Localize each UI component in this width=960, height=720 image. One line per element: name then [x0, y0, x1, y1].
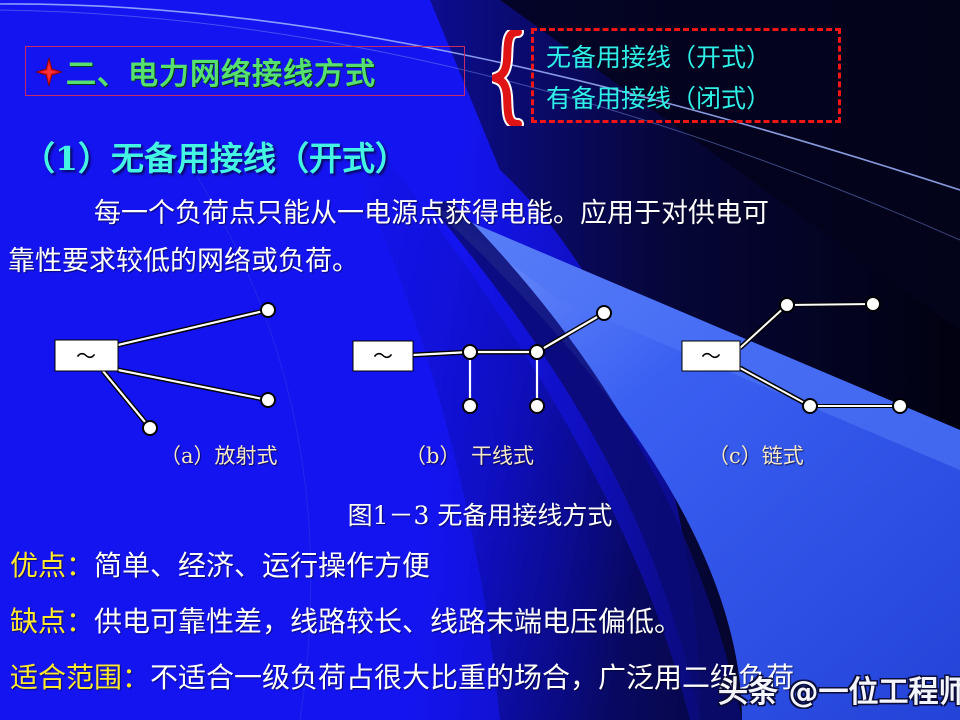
figure-labels: （a）放射式 （b） 干线式 （c）链式 [0, 440, 960, 474]
source-symbol-a: ～ [76, 344, 96, 368]
section-title-box: 二、电力网络接线方式 [25, 46, 465, 96]
bullet-value-scope: 不适合一级负荷占很大比重的场合，广泛用二级负荷 [150, 661, 794, 694]
bullet-advantages: 优点：简单、经济、运行操作方便 [10, 538, 960, 594]
bullet-key-scope: 适合范围： [10, 661, 150, 694]
source-symbol-c: ～ [701, 344, 721, 368]
bullet-value-disadvantages: 供电可靠性差，线路较长、线路末端电压偏低。 [94, 605, 682, 638]
diagram-radial: ～ [55, 303, 275, 435]
diagram-chain: ～ [682, 297, 907, 413]
subsection-heading: （1）无备用接线（开式） [22, 132, 408, 180]
paragraph-line-1: 每一个负荷点只能从一电源点获得电能。应用于对供电可 [94, 198, 769, 229]
watermark: 头条 @一位工程师 [718, 667, 960, 711]
slide-canvas: 二、电力网络接线方式 无备用接线（开式） 有备用接线（闭式） （1）无备用接线（… [0, 0, 960, 720]
callout-dashed-box: 无备用接线（开式） 有备用接线（闭式） [531, 28, 841, 123]
bullet-value-advantages: 简单、经济、运行操作方便 [94, 549, 430, 582]
diagram-trunk: ～ [353, 306, 611, 413]
figure-caption: 图1－3 无备用接线方式 [0, 496, 960, 532]
bullet-key-disadvantages: 缺点： [10, 605, 94, 638]
source-symbol-b: ～ [373, 344, 393, 368]
callout-line-1: 无备用接线（开式） [546, 37, 828, 78]
callout-line-2: 有备用接线（闭式） [546, 78, 828, 119]
bullet-key-advantages: 优点： [10, 549, 94, 582]
bullet-disadvantages: 缺点：供电可靠性差，线路较长、线路末端电压偏低。 [10, 594, 960, 650]
figure-label-a: （a）放射式 [160, 440, 278, 470]
figure-label-c: （c）链式 [708, 440, 804, 470]
page-title: 二、电力网络接线方式 [66, 49, 376, 93]
red-diamond-star-icon [36, 58, 62, 86]
paragraph-line-2: 靠性要求较低的网络或负荷。 [8, 246, 359, 277]
curly-brace-icon [492, 30, 526, 126]
body-paragraph: 每一个负荷点只能从一电源点获得电能。应用于对供电可 靠性要求较低的网络或负荷。 [8, 190, 954, 286]
figure-label-b: （b） 干线式 [405, 440, 534, 470]
